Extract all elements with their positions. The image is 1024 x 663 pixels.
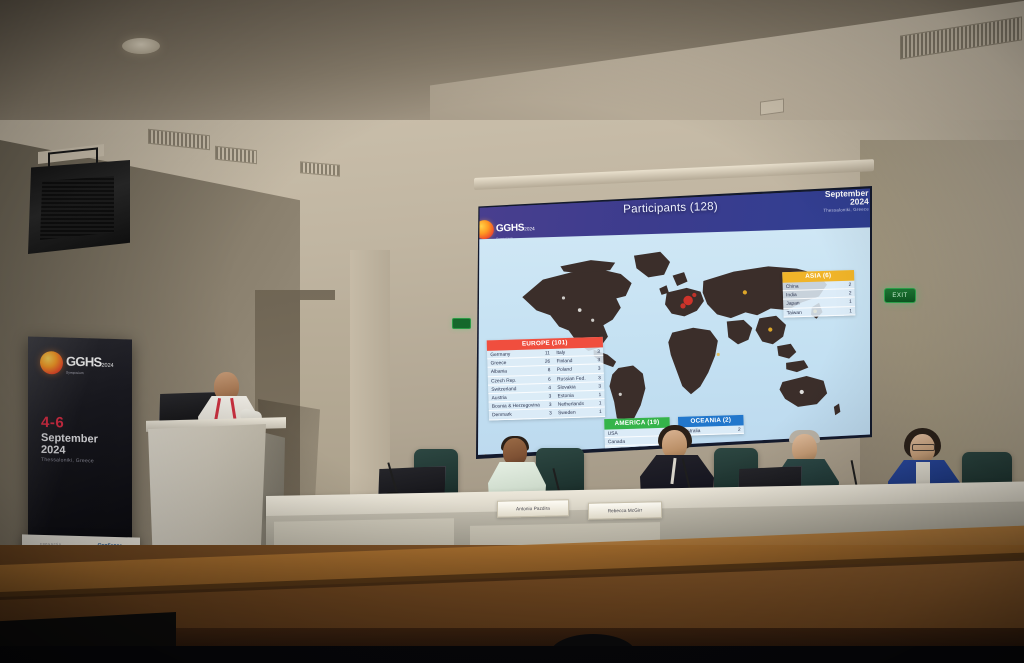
nameplate-text: Rebecca McGirr — [608, 508, 643, 514]
panelist-head — [792, 434, 817, 463]
country-count: 1 — [595, 407, 606, 416]
region-panel-asia: ASIA (6) China2 India2 Japan1 Taiwan1 — [782, 270, 855, 317]
region-panel-europe: EUROPE (101) Germany11 Greece26 Albania8… — [487, 337, 605, 420]
slide-date-place: Thessaloniki, Greece — [823, 207, 869, 213]
country-count: 8 — [542, 366, 554, 375]
foreground-bar — [0, 646, 1024, 663]
exit-sign-label: EXIT — [892, 293, 907, 299]
country-name: Sweden — [555, 408, 595, 418]
globe-icon — [478, 220, 494, 240]
rollup-banner: GGHS2024 Symposium 4-6 September 2024 Th… — [28, 337, 132, 555]
country-count: 3 — [543, 409, 555, 418]
country-count: 3 — [593, 373, 604, 382]
ceiling-downlight-icon — [122, 38, 160, 54]
country-count: 4 — [542, 383, 554, 392]
table-row: Sweden1 — [555, 407, 605, 417]
banner-date-block: 4-6 September 2024 Thessaloniki, Greece — [41, 415, 98, 465]
banner-logo: GGHS2024 Symposium — [40, 351, 114, 376]
country-count: 1 — [594, 390, 605, 399]
banner-logo-name: GGHS — [66, 353, 101, 369]
europe-column-1: Germany11 Greece26 Albania8 Czech Rep.6 … — [487, 349, 555, 420]
table-row: Taiwan1 — [783, 306, 855, 317]
country-count: 3 — [594, 381, 605, 390]
country-name: Denmark — [489, 409, 544, 419]
conference-room-photo: EXIT Participants (128) 4-6 September 20… — [0, 0, 1024, 663]
banner-logo-subtitle: Symposium — [66, 370, 114, 375]
slide-body: EUROPE (101) Germany11 Greece26 Albania8… — [478, 227, 870, 456]
banner-logo-year: 2024 — [101, 362, 113, 368]
country-count: 3 — [593, 364, 604, 373]
slide-logo-year: 2024 — [524, 226, 535, 232]
country-count: 26 — [542, 357, 554, 366]
country-count: 1 — [834, 306, 856, 315]
country-count: 3 — [543, 400, 555, 409]
banner-date-days: 4-6 — [41, 415, 98, 433]
country-count: 3 — [543, 392, 555, 401]
panelist-head — [662, 430, 687, 459]
country-count: 3 — [593, 355, 604, 364]
country-count: 6 — [542, 374, 554, 383]
country-count: 2 — [726, 425, 744, 434]
slide-logo-name: GGHS — [496, 222, 525, 234]
slide-header-date: 4-6 September 2024 Thessaloniki, Greece — [822, 188, 869, 213]
banner-date-year: 2024 — [41, 444, 98, 458]
table-row: Denmark3 — [489, 409, 555, 420]
country-count: 1 — [594, 399, 605, 408]
europe-column-2: Italy3 Finland3 Poland3 Russian Fed.3 Sl… — [553, 347, 605, 418]
presentation-slide: Participants (128) 4-6 September 2024 Th… — [478, 188, 870, 456]
panelist-head — [503, 438, 527, 466]
nameplate-2: Rebecca McGirr — [588, 501, 662, 520]
nameplate-1: Antonio Pazdira — [497, 499, 569, 518]
exit-sign-secondary-icon — [452, 318, 471, 329]
banner-date-month: September — [41, 431, 98, 445]
speaker-grille — [40, 176, 114, 240]
exit-sign-icon: EXIT — [884, 288, 916, 303]
nameplate-text: Antonio Pazdira — [516, 506, 550, 512]
eyeglasses-icon — [912, 444, 935, 451]
country-name: Taiwan — [783, 307, 834, 317]
globe-icon — [40, 351, 63, 375]
